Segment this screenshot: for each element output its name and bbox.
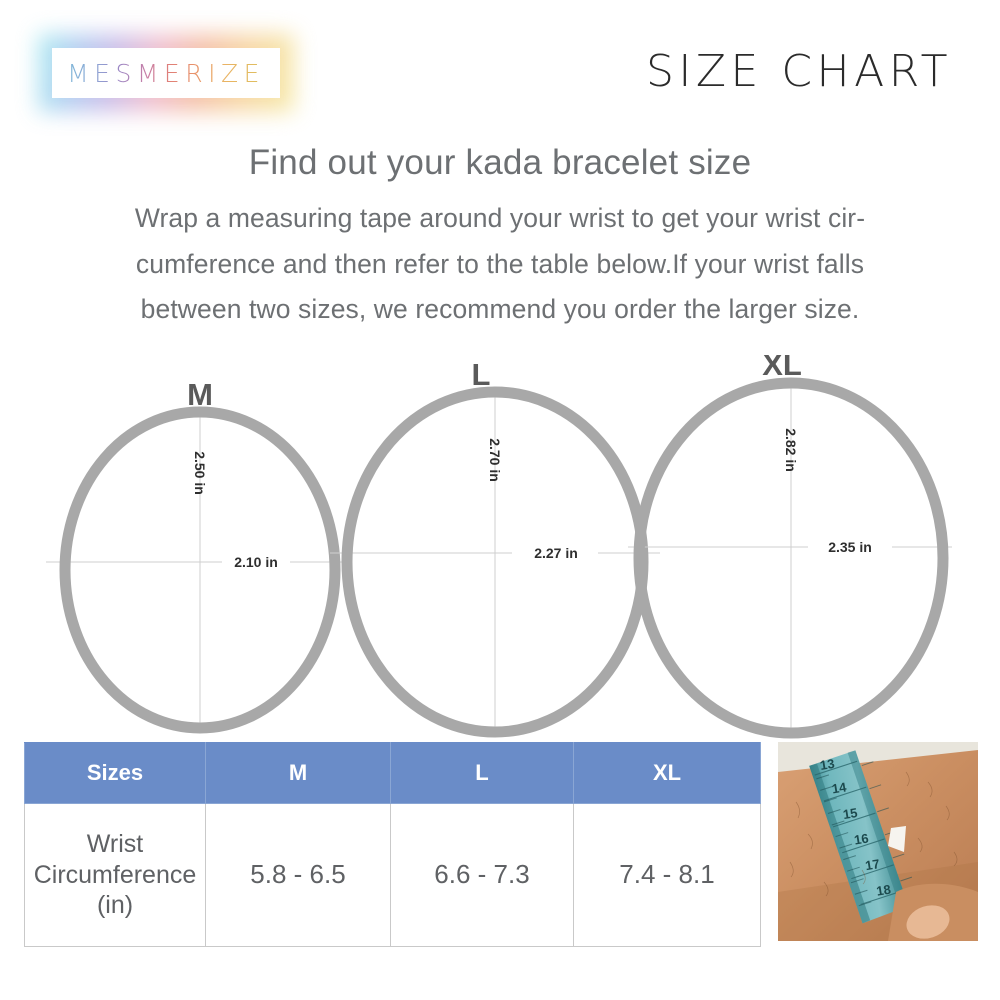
oval-m-label: M bbox=[187, 377, 213, 412]
oval-xl-height-label: 2.82 in bbox=[783, 428, 799, 472]
thumb bbox=[888, 884, 978, 941]
wrist-measuring-photo: 13 14 15 16 17 18 bbox=[778, 742, 978, 941]
table-header-l: L bbox=[391, 743, 574, 804]
intro-line-3: between two sizes, we recommend you orde… bbox=[50, 287, 950, 333]
row-label-line-3: (in) bbox=[29, 890, 201, 921]
intro-body: Wrap a measuring tape around your wrist … bbox=[50, 196, 950, 333]
table-row: Wrist Circumference (in) 5.8 - 6.5 6.6 -… bbox=[25, 804, 761, 947]
brand-logo: MESMERIZE bbox=[52, 48, 280, 98]
oval-l-width-label: 2.27 in bbox=[534, 545, 578, 561]
oval-group-m: M 2.50 in 2.10 in bbox=[46, 377, 352, 733]
table-header-row: Sizes M L XL bbox=[25, 743, 761, 804]
row-label-line-1: Wrist bbox=[29, 829, 201, 860]
oval-group-xl: XL 2.82 in 2.35 in bbox=[628, 355, 952, 733]
oval-m-width-label: 2.10 in bbox=[234, 554, 278, 570]
intro-heading: Find out your kada bracelet size bbox=[50, 142, 950, 183]
page-title: SIZE CHART bbox=[646, 46, 952, 97]
table-header-m: M bbox=[206, 743, 391, 804]
intro-line-2: cumference and then refer to the table b… bbox=[50, 242, 950, 288]
oval-m-height-label: 2.50 in bbox=[192, 451, 208, 495]
oval-l-height-label: 2.70 in bbox=[487, 438, 503, 482]
cell-wrist-circumference-xl: 7.4 - 8.1 bbox=[574, 804, 761, 947]
size-table: Sizes M L XL Wrist Circumference (in) 5.… bbox=[24, 742, 761, 947]
row-label-line-2: Circumference bbox=[29, 860, 201, 891]
tape-mark-18: 18 bbox=[875, 882, 892, 899]
tape-mark-15: 15 bbox=[842, 805, 859, 822]
oval-l-label: L bbox=[472, 357, 491, 392]
tape-mark-17: 17 bbox=[864, 856, 881, 873]
oval-group-l: L 2.70 in 2.27 in bbox=[330, 357, 660, 733]
bracelet-ovals-diagram: M 2.50 in 2.10 in L 2.70 in 2.27 in XL 2… bbox=[0, 355, 1000, 745]
tape-mark-13: 13 bbox=[819, 756, 836, 773]
oval-xl-label: XL bbox=[762, 355, 802, 382]
intro-block: Find out your kada bracelet size Wrap a … bbox=[50, 142, 950, 333]
intro-line-1: Wrap a measuring tape around your wrist … bbox=[50, 196, 950, 242]
table-header-sizes: Sizes bbox=[25, 743, 206, 804]
brand-name: MESMERIZE bbox=[67, 59, 265, 88]
table-header-xl: XL bbox=[574, 743, 761, 804]
tape-mark-16: 16 bbox=[853, 831, 870, 848]
row-label-wrist-circumference: Wrist Circumference (in) bbox=[25, 804, 206, 947]
oval-xl-width-label: 2.35 in bbox=[828, 539, 872, 555]
cell-wrist-circumference-m: 5.8 - 6.5 bbox=[206, 804, 391, 947]
cell-wrist-circumference-l: 6.6 - 7.3 bbox=[391, 804, 574, 947]
